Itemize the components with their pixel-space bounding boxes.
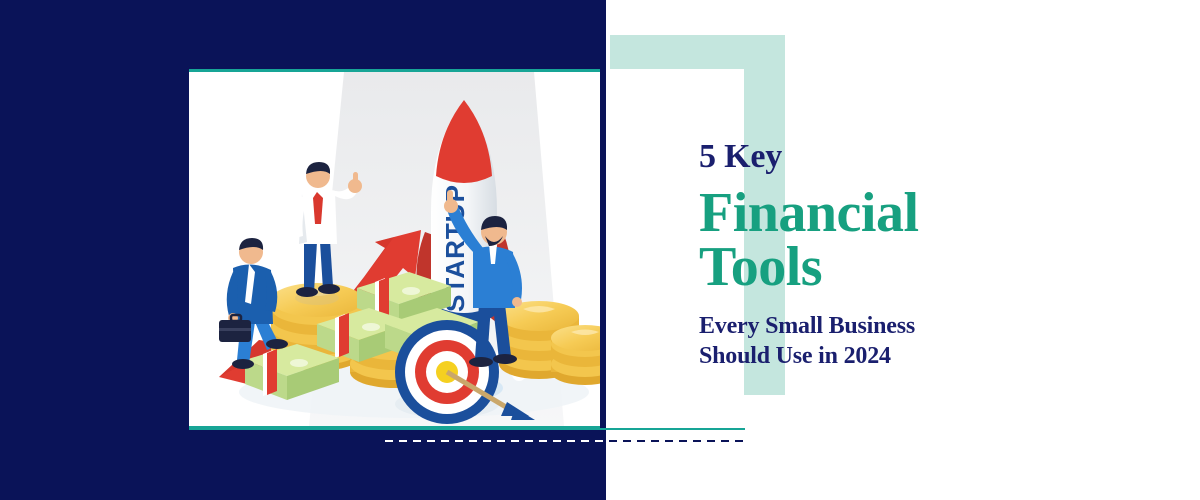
- dashed-rule-over-navy: [385, 440, 606, 442]
- headline-text: Financial Tools: [699, 186, 1169, 295]
- startup-growth-isometric-illustration: STARTUP: [189, 72, 600, 426]
- headline-text-block: 5 Key Financial Tools Every Small Busine…: [699, 140, 1169, 371]
- subheadline-text: Every Small Business Should Use in 2024: [699, 311, 1169, 371]
- subheadline-line-1: Every Small Business: [699, 311, 1169, 341]
- subheadline-line-2: Should Use in 2024: [699, 341, 1169, 371]
- coin-stack-right-front: [551, 325, 600, 385]
- banner-root: STARTUP: [0, 0, 1200, 500]
- headline-line-1: Financial: [699, 186, 1169, 240]
- illustration-card-inner: STARTUP: [189, 72, 600, 426]
- solid-teal-rule: [189, 428, 745, 430]
- illustration-card: STARTUP: [189, 69, 600, 429]
- eyebrow-text: 5 Key: [699, 140, 1169, 174]
- headline-line-2: Tools: [699, 240, 1169, 294]
